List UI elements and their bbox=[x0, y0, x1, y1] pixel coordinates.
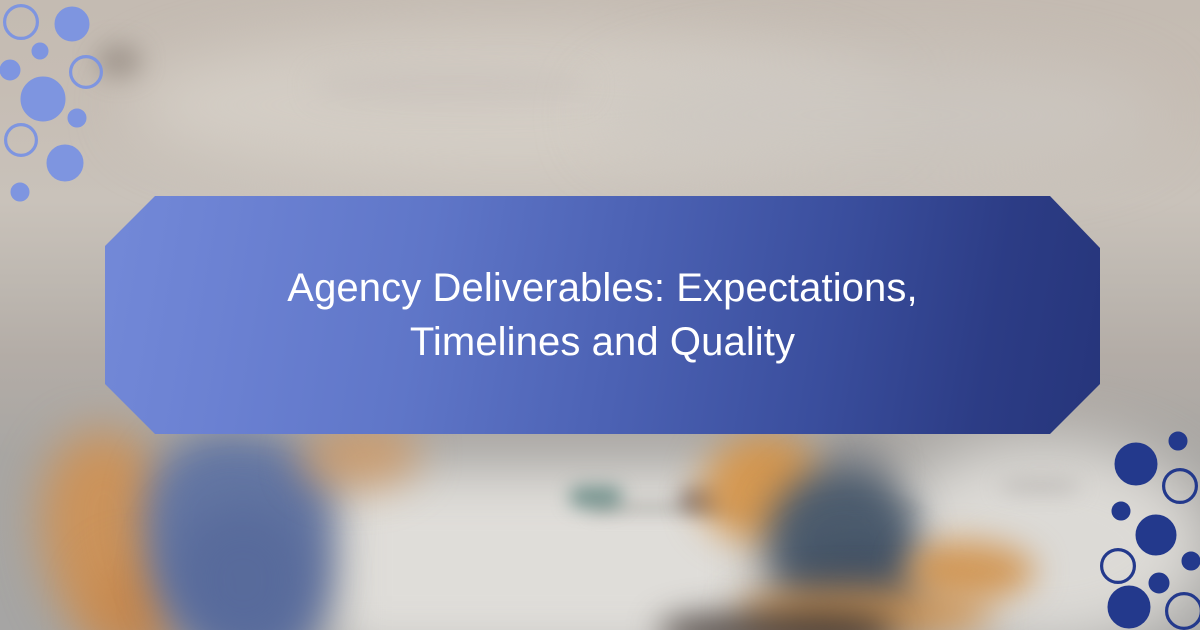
social-share-card: Agency Deliverables: Expectations, Timel… bbox=[0, 0, 1200, 630]
background-blur-spot-right bbox=[1000, 478, 1080, 494]
page-title: Agency Deliverables: Expectations, Timel… bbox=[178, 261, 1028, 369]
background-blur-wall-highlight-2 bbox=[600, 55, 1160, 175]
background-blur-spot-left bbox=[96, 44, 142, 78]
background-blur-object-teal bbox=[570, 486, 622, 508]
background-blur-foreground-shadow bbox=[660, 612, 890, 630]
background-blur-spot-center bbox=[316, 70, 586, 102]
title-banner: Agency Deliverables: Expectations, Timel… bbox=[105, 196, 1100, 434]
